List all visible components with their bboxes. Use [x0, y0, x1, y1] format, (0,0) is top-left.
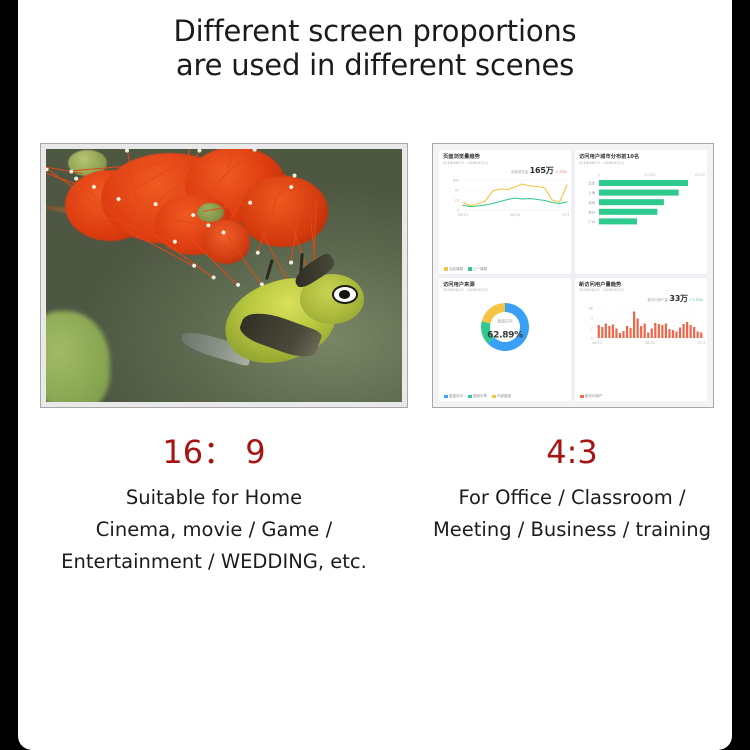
svg-text:06/30: 06/30 [645, 341, 655, 345]
caption-line: For Office / Classroom / [412, 482, 732, 514]
legend-item: 新访问用户 [580, 394, 603, 399]
ratio-label-16-9: 16： 9 [24, 432, 404, 472]
panels-row: 页面浏览量趋势 2016/06/13 - 2016/07/12 页面浏览量 16… [18, 140, 732, 415]
caption-text-16-9: Suitable for Home Cinema, movie / Game /… [24, 482, 404, 578]
svg-text:20: 20 [455, 198, 459, 202]
legend-label: 搜索引擎 [473, 394, 487, 399]
legend-swatch [468, 267, 472, 271]
bird-on-red-flower-photo [46, 149, 402, 402]
svg-text:07/12: 07/12 [698, 341, 705, 345]
ratio-label-4-3: 4:3 [412, 432, 732, 472]
kpi-new-users: 新访问用户量 33万 +7.32% [647, 293, 703, 304]
line-chart: 60k40200 06/1306/3007/12 [441, 176, 569, 220]
kpi-label: 页面浏览量 [511, 169, 528, 174]
svg-text:0: 0 [457, 208, 459, 212]
donut-label: 直接访问 [487, 319, 523, 323]
card-new-user-trend: 新访问用户量趋势 2016/06/13 - 2016/07/12 新访问用户量 … [575, 278, 707, 402]
svg-text:07/12: 07/12 [562, 213, 569, 217]
bar-chart: 6k420 06/1306/3007/12 [577, 304, 705, 348]
svg-text:2: 2 [591, 326, 593, 330]
svg-text:深圳: 深圳 [588, 200, 595, 205]
svg-text:4: 4 [591, 316, 593, 320]
donut-center-label: 直接访问 62.89% [487, 319, 523, 340]
chart-legend: 直接访问 搜索引擎 外部链接 [444, 394, 511, 399]
kpi-value: 165万 [530, 165, 554, 176]
projection-frame-4-3: 页面浏览量趋势 2016/06/13 - 2016/07/12 页面浏览量 16… [432, 143, 714, 408]
legend-swatch [444, 395, 448, 399]
card-pageview-trend: 页面浏览量趋势 2016/06/13 - 2016/07/12 页面浏览量 16… [439, 150, 571, 274]
card-title: 访问用户来源 [443, 282, 567, 288]
kpi-pageview: 页面浏览量 165万 -2.93% [511, 165, 567, 176]
white-eye-bird [188, 250, 387, 397]
kpi-delta: +7.32% [689, 298, 703, 302]
legend-label: 上一周期 [473, 267, 487, 272]
svg-text:0: 0 [598, 173, 600, 177]
card-visit-source: 访问用户来源 2016/06/13 - 2016/07/12 直接访问 62.8… [439, 278, 571, 402]
legend-item: 外部链接 [492, 394, 511, 399]
legend-item: 当前周期 [444, 267, 463, 272]
svg-text:0: 0 [591, 336, 593, 340]
page-title-line-1: Different screen proportions [18, 14, 732, 48]
legend-swatch [444, 267, 448, 271]
kpi-label: 新访问用户量 [647, 297, 667, 302]
legend-swatch [492, 395, 496, 399]
horizontal-bar-chart: 050,000100,000 北京上海深圳杭州广州 [577, 168, 705, 226]
kpi-delta: -2.93% [555, 170, 567, 174]
bird-leg [265, 259, 273, 279]
chart-legend: 新访问用户 [580, 394, 603, 399]
analytics-dashboard-screenshot: 页面浏览量趋势 2016/06/13 - 2016/07/12 页面浏览量 16… [439, 150, 707, 401]
caption-line: Meeting / Business / training [412, 514, 732, 546]
svg-text:100,000: 100,000 [694, 173, 705, 177]
captions-row: 16： 9 Suitable for Home Cinema, movie / … [18, 432, 732, 612]
caption-16-9: 16： 9 Suitable for Home Cinema, movie / … [24, 432, 404, 578]
card-title: 页面浏览量趋势 [443, 154, 567, 160]
legend-label: 外部链接 [497, 394, 511, 399]
svg-text:上海: 上海 [588, 190, 595, 195]
svg-text:06/13: 06/13 [458, 213, 468, 217]
legend-item: 上一周期 [468, 267, 487, 272]
page-title-line-2: are used in different scenes [18, 48, 732, 82]
legend-item: 搜索引擎 [468, 394, 487, 399]
svg-text:广州: 广州 [588, 219, 595, 224]
card-subtitle: 2016/06/13 - 2016/07/12 [579, 161, 703, 166]
legend-swatch [468, 395, 472, 399]
card-city-distribution: 访问用户城市分布前10名 2016/06/13 - 2016/07/12 050… [575, 150, 707, 274]
svg-text:06/30: 06/30 [510, 213, 520, 217]
donut-value: 62.89% [487, 330, 523, 340]
caption-text-4-3: For Office / Classroom / Meeting / Busin… [412, 482, 732, 546]
kpi-value: 33万 [669, 293, 688, 304]
svg-text:6k: 6k [589, 306, 593, 310]
caption-line: Entertainment / WEDDING, etc. [24, 546, 404, 578]
projection-frame-16-9 [40, 143, 408, 408]
legend-swatch [580, 395, 584, 399]
svg-text:06/13: 06/13 [592, 341, 602, 345]
legend-label: 新访问用户 [585, 394, 603, 399]
legend-label: 当前周期 [449, 267, 463, 272]
card-subtitle: 2016/06/13 - 2016/07/12 [443, 288, 567, 293]
caption-line: Cinema, movie / Game / [24, 514, 404, 546]
card-title: 新访问用户量趋势 [579, 282, 703, 288]
svg-text:北京: 北京 [588, 181, 595, 186]
page-title: Different screen proportions are used in… [18, 14, 732, 82]
caption-4-3: 4:3 For Office / Classroom / Meeting / B… [412, 432, 732, 546]
caption-line: Suitable for Home [24, 482, 404, 514]
slide-card: Different screen proportions are used in… [18, 0, 732, 750]
svg-text:40: 40 [455, 188, 459, 192]
chart-legend: 当前周期 上一周期 [444, 267, 487, 272]
svg-text:50,000: 50,000 [644, 173, 655, 177]
svg-text:杭州: 杭州 [588, 209, 595, 214]
svg-text:60k: 60k [453, 178, 459, 182]
legend-item: 直接访问 [444, 394, 463, 399]
card-title: 访问用户城市分布前10名 [579, 154, 703, 160]
legend-label: 直接访问 [449, 394, 463, 399]
